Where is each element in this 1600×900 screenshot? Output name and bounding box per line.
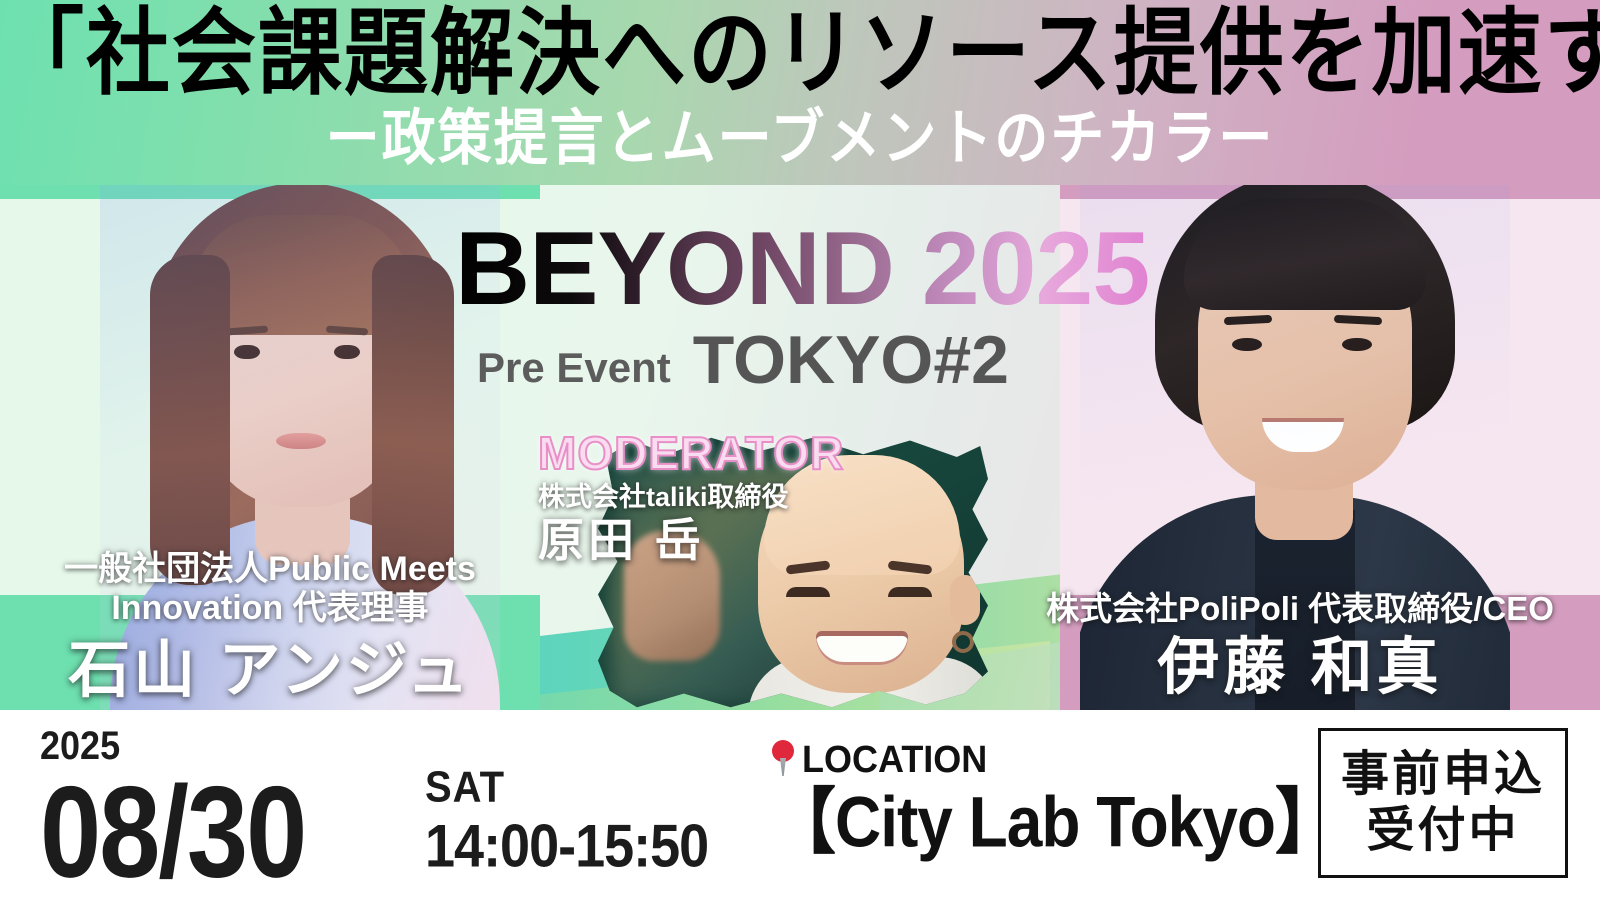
map-pin-needle — [780, 758, 786, 776]
event-time: 14:00-15:50 — [425, 816, 708, 876]
event-poster: 「社会課題解決へのリソース提供を加速する」 ー政策提言とムーブメントのチカラー — [0, 0, 1600, 900]
speaker-right-name: 伊藤 和真 — [1000, 634, 1600, 702]
registration-line1: 事前申込 — [1341, 749, 1545, 801]
speaker-left-caption: 一般社団法人Public Meets Innovation 代表理事 石山 アン… — [10, 550, 530, 705]
event-date-block: 2025 08/30 — [40, 726, 305, 878]
moderator-role: 株式会社taliki取締役 — [538, 482, 820, 513]
ear-shape — [950, 575, 980, 625]
logo-subrow: Pre Event TOKYO#2 — [455, 329, 1155, 392]
page-title: 「社会課題解決へのリソース提供を加速する」 — [0, 6, 1600, 100]
hair-front-left — [150, 255, 230, 585]
earring-icon — [952, 631, 974, 653]
eye-right — [334, 345, 360, 359]
registration-line2: 受付中 — [1366, 805, 1519, 857]
eye-left — [234, 345, 260, 359]
location-label: LOCATION — [802, 740, 987, 778]
event-date: 08/30 — [40, 768, 305, 898]
speaker-left-role-line1: 一般社団法人Public Meets — [10, 550, 530, 589]
moderator-caption: MODERATOR 株式会社taliki取締役 原田 岳 — [520, 430, 820, 566]
speaker-right-caption: 株式会社PoliPoli 代表取締役/CEO 伊藤 和真 — [1000, 590, 1600, 702]
eye-right — [1342, 338, 1372, 351]
poster-footer: 2025 08/30 SAT 14:00-15:50 LOCATION 【Cit… — [0, 710, 1600, 900]
eye-left — [1232, 338, 1262, 351]
hair-bangs — [1184, 198, 1426, 310]
pre-event-label: Pre Event — [477, 344, 671, 392]
poster-stage: BEYOND 2025 Pre Event TOKYO#2 MODERATOR … — [0, 185, 1600, 710]
event-venue: 【City Lab Tokyo】 — [772, 786, 1338, 858]
poster-header: 「社会課題解決へのリソース提供を加速する」 ー政策提言とムーブメントのチカラー — [0, 0, 1600, 185]
edition-label: TOKYO#2 — [693, 329, 1009, 392]
map-pin-icon — [772, 740, 794, 776]
eye-left — [786, 587, 830, 597]
eye-right — [888, 587, 932, 597]
registration-badge[interactable]: 事前申込 受付中 — [1318, 728, 1568, 878]
speaker-left-name: 石山 アンジュ — [10, 637, 530, 705]
smile-shape — [816, 631, 908, 665]
event-location-block: LOCATION 【City Lab Tokyo】 — [772, 740, 1338, 850]
moderator-badge: MODERATOR — [538, 430, 820, 476]
moderator-name: 原田 岳 — [538, 515, 820, 566]
event-day-of-week: SAT — [425, 766, 708, 809]
hair-front-right — [372, 255, 454, 595]
speaker-left-role-line2: Innovation 代表理事 — [10, 589, 530, 628]
mouth-shape — [276, 433, 326, 449]
event-time-block: SAT 14:00-15:50 — [425, 766, 708, 870]
page-subtitle: ー政策提言とムーブメントのチカラー — [0, 108, 1600, 168]
event-logo: BEYOND 2025 Pre Event TOKYO#2 — [455, 217, 1155, 392]
location-heading: LOCATION — [772, 740, 1338, 776]
speaker-right-role: 株式会社PoliPoli 代表取締役/CEO — [1000, 590, 1600, 628]
brand-title: BEYOND 2025 — [455, 217, 1155, 321]
